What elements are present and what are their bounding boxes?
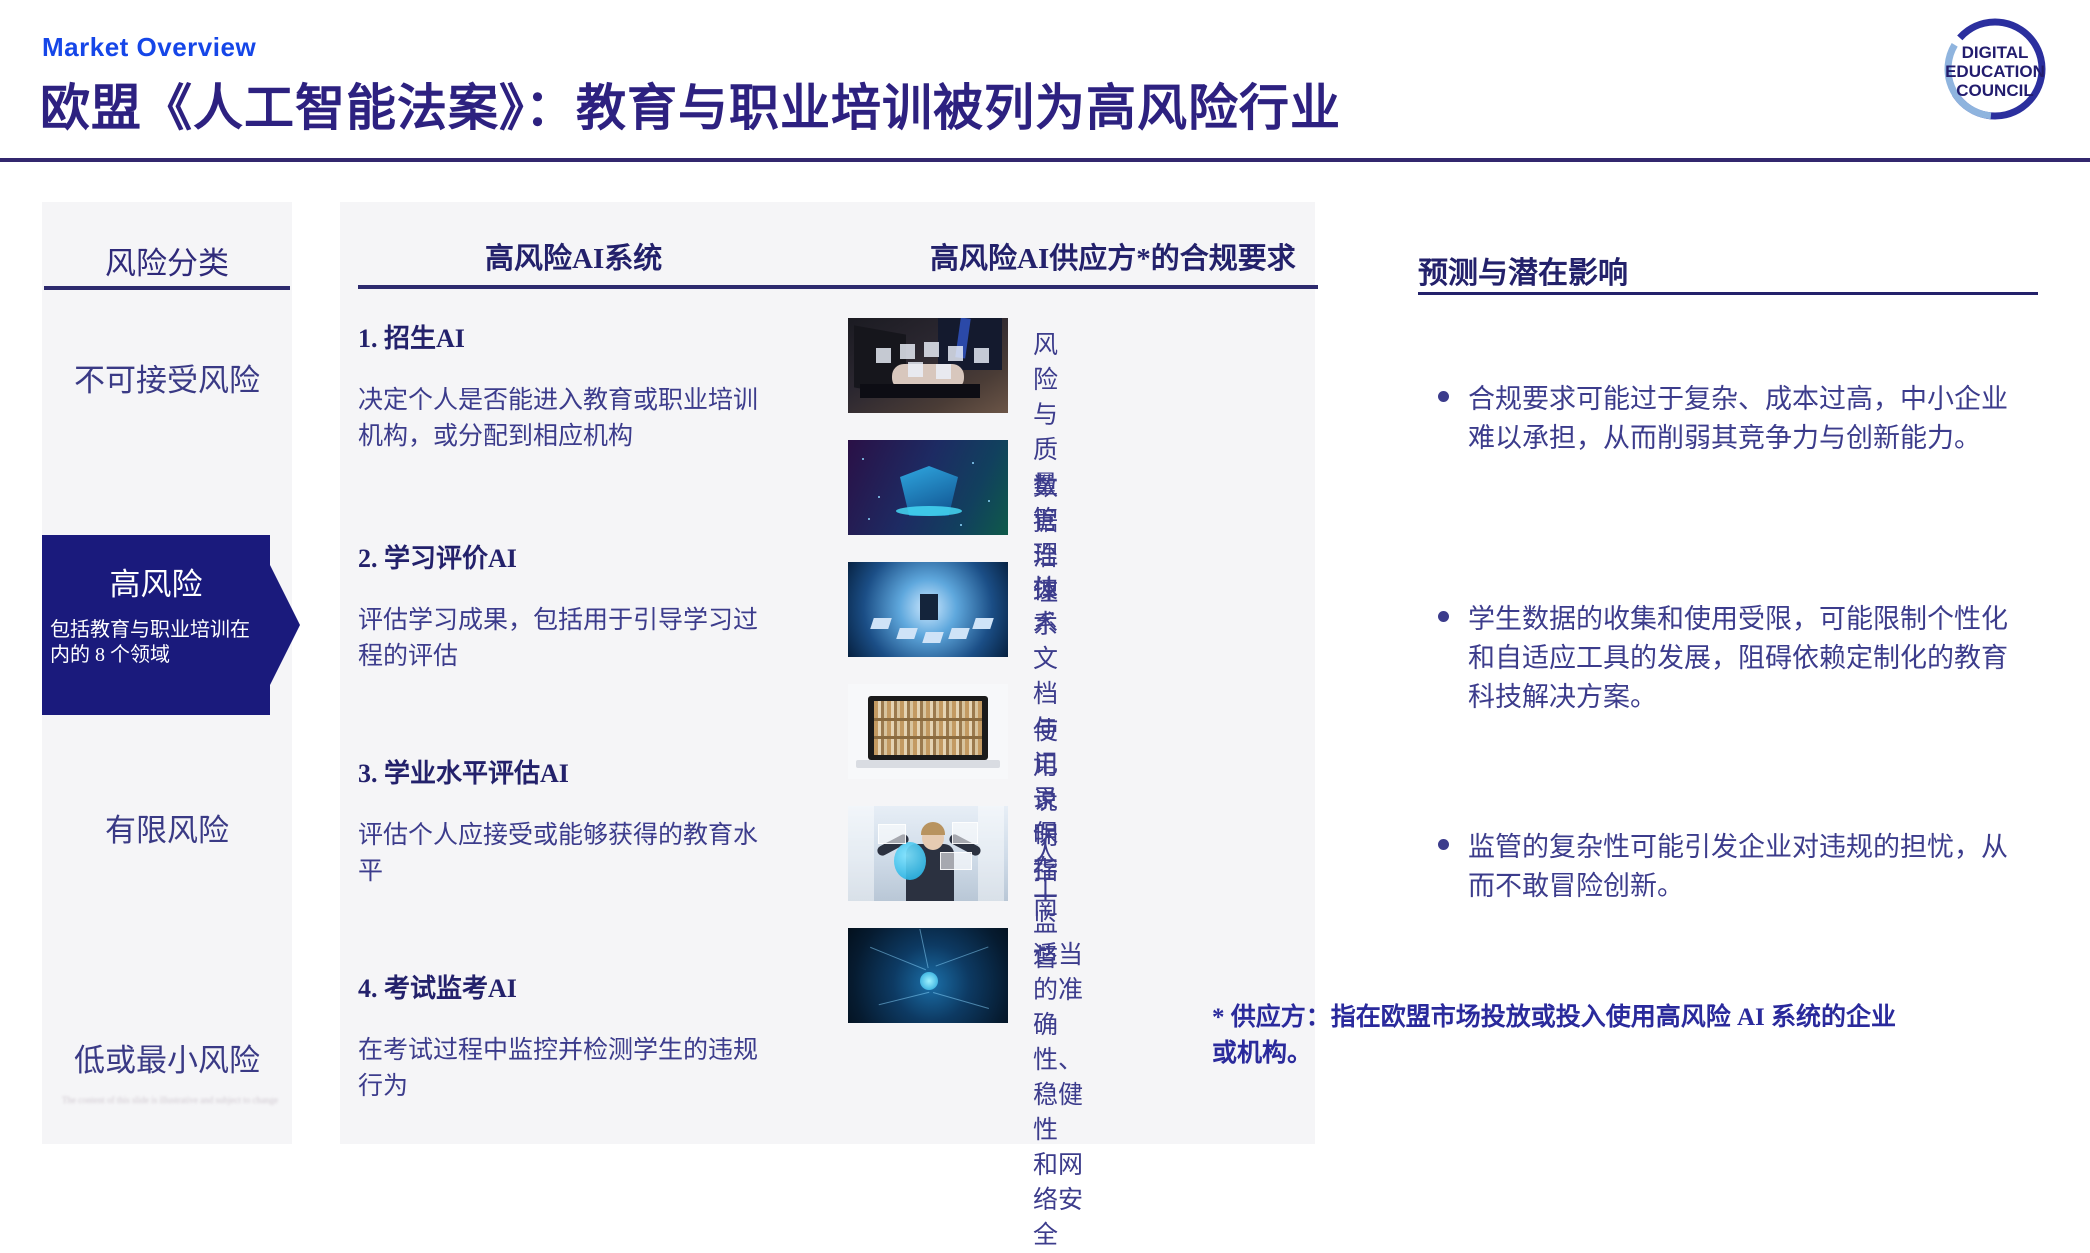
system-desc-4: 在考试过程中监控并检测学生的违规行为: [358, 1033, 758, 1106]
list-item: 监管的复杂性可能引发企业对违规的担忧，从而不敢冒险创新。: [1468, 828, 2028, 906]
system-desc-2: 评估学习成果，包括用于引导学习过程的评估: [358, 603, 758, 676]
risk-level-high-card[interactable]: 高风险 包括教育与职业培训在内的 8 个领域: [42, 535, 270, 715]
risk-level-unacceptable[interactable]: 不可接受风险: [42, 355, 292, 400]
woman-touch-interface-photo: [848, 806, 1008, 901]
system-title-2: 2. 学习评价AI: [358, 538, 758, 575]
column-header-systems: 高风险AI系统: [485, 235, 662, 277]
logo-icon: DIGITAL EDUCATION COUNCIL: [1920, 14, 2070, 124]
risk-level-limited[interactable]: 有限风险: [42, 805, 292, 850]
system-name-4: 考试监考AI: [384, 974, 517, 1003]
system-name-2: 学习评价AI: [384, 544, 517, 573]
list-item[interactable]: 3. 学业水平评估AI 评估个人应接受或能够获得的教育水平: [358, 753, 758, 891]
title-divider: [0, 158, 2090, 162]
laptop-hands-icons-photo: [848, 318, 1008, 413]
impact-bullet-2: 学生数据的收集和使用受限，可能限制个性化和自适应工具的发展，阻碍依赖定制化的教育…: [1468, 604, 2008, 712]
requirement-label-6: 适当的准确性、稳健性和网络安全: [1033, 938, 1083, 1253]
digital-brain-circuit-photo: [848, 928, 1008, 1023]
system-number-3: 3.: [358, 759, 378, 788]
risk-level-high-subtext: 包括教育与职业培训在内的 8 个领域: [42, 618, 270, 668]
globe-network-nodes-photo: [848, 562, 1008, 657]
system-number-4: 4.: [358, 974, 378, 1003]
bullet-dot-icon: [1438, 839, 1449, 850]
risk-level-high-label: 高风险: [42, 559, 270, 604]
logo-line-1: DIGITAL: [1962, 43, 2029, 62]
system-title-1: 1. 招生AI: [358, 318, 758, 355]
system-desc-1: 决定个人是否能进入教育或职业培训机构，或分配到相应机构: [358, 383, 758, 456]
risk-level-low[interactable]: 低或最小风险: [42, 1035, 292, 1080]
list-item[interactable]: 2. 学习评价AI 评估学习成果，包括用于引导学习过程的评估: [358, 538, 758, 676]
column-header-requirements: 高风险AI供应方*的合规要求: [930, 235, 1296, 277]
impact-bullet-1: 合规要求可能过于复杂、成本过高，中小企业难以承担，从而削弱其竞争力与创新能力。: [1468, 384, 2008, 453]
system-name-1: 招生AI: [384, 324, 465, 353]
supplier-footnote: * 供应方：指在欧盟市场投放或投入使用高风险 AI 系统的企业或机构。: [1212, 1000, 1912, 1073]
column-header-divider: [358, 285, 1318, 289]
impact-bullet-3: 监管的复杂性可能引发企业对违规的担忧，从而不敢冒险创新。: [1468, 832, 2008, 901]
logo-line-3: COUNCIL: [1956, 81, 2033, 100]
bullet-dot-icon: [1438, 391, 1449, 402]
risk-heading-divider: [44, 286, 290, 290]
list-item: 合规要求可能过于复杂、成本过高，中小企业难以承担，从而削弱其竞争力与创新能力。: [1468, 380, 2028, 458]
system-name-3: 学业水平评估AI: [384, 759, 569, 788]
digital-education-council-logo: DIGITAL EDUCATION COUNCIL: [1920, 14, 2070, 124]
system-title-3: 3. 学业水平评估AI: [358, 753, 758, 790]
list-item: 学生数据的收集和使用受限，可能限制个性化和自适应工具的发展，阻碍依赖定制化的教育…: [1468, 600, 2028, 717]
laptop-bookshelf-photo: [848, 684, 1008, 779]
logo-line-2: EDUCATION: [1945, 62, 2045, 81]
bullet-dot-icon: [1438, 611, 1449, 622]
system-number-2: 2.: [358, 544, 378, 573]
list-item[interactable]: 1. 招生AI 决定个人是否能进入教育或职业培训机构，或分配到相应机构: [358, 318, 758, 456]
risk-panel-ghost-note: The content of this slide is illustrativ…: [60, 1095, 280, 1105]
system-number-1: 1.: [358, 324, 378, 353]
system-desc-3: 评估个人应接受或能够获得的教育水平: [358, 818, 758, 891]
risk-high-arrow-icon: [270, 565, 300, 685]
risk-panel-heading: 风险分类: [42, 238, 292, 283]
blue-shield-circuit-photo: [848, 440, 1008, 535]
impact-heading-divider: [1418, 292, 2038, 295]
system-title-4: 4. 考试监考AI: [358, 968, 758, 1005]
impact-panel-heading: 预测与潜在影响: [1418, 248, 1628, 292]
page-title: 欧盟《人工智能法案》：教育与职业培训被列为高风险行业: [40, 68, 1341, 140]
list-item[interactable]: 4. 考试监考AI 在考试过程中监控并检测学生的违规行为: [358, 968, 758, 1106]
eyebrow-label: Market Overview: [42, 32, 256, 63]
